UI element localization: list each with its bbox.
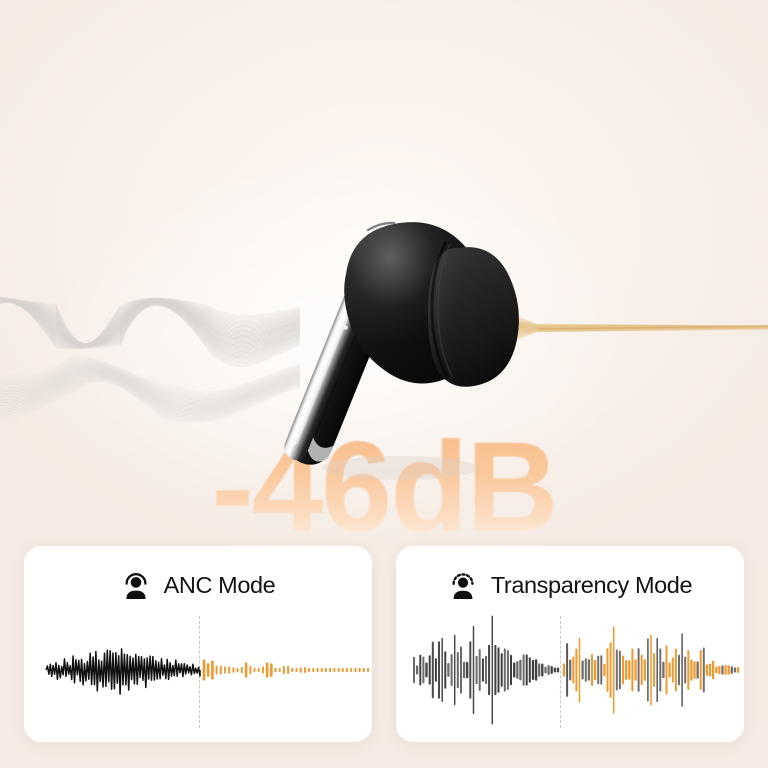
card-anc-label: ANC Mode xyxy=(164,572,276,599)
card-transparency-header: Transparency Mode xyxy=(396,564,744,606)
person-dashed-arc-icon xyxy=(448,570,478,600)
anc-waveform xyxy=(24,608,372,732)
card-transparency-label: Transparency Mode xyxy=(491,572,692,599)
feature-graphic-canvas: -46dB xyxy=(0,0,768,768)
earbud-product-image xyxy=(250,168,550,498)
person-solid-arc-icon xyxy=(121,570,151,600)
transparency-waveform xyxy=(396,608,744,732)
card-anc-header: ANC Mode xyxy=(24,564,372,606)
card-transparency-mode[interactable]: Transparency Mode xyxy=(396,546,744,742)
mode-cards: ANC Mode Transparency Mode xyxy=(0,546,768,746)
card-anc-mode[interactable]: ANC Mode xyxy=(24,546,372,742)
